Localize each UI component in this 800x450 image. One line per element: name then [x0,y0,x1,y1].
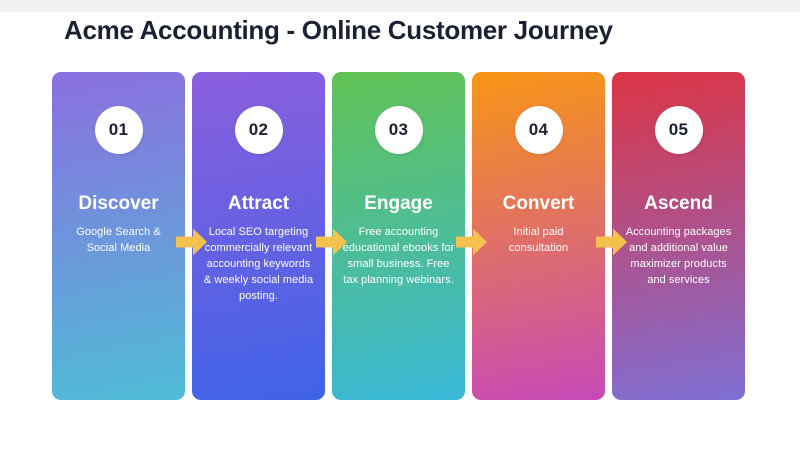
stage-content: 04ConvertInitial paid consultation [472,72,605,257]
stage-description: Local SEO targeting commercially relevan… [203,225,315,305]
stage-number-badge: 05 [655,106,703,154]
stage-heading: Discover [78,194,158,215]
stage-number-badge: 01 [95,106,143,154]
stage-description: Initial paid consultation [483,225,595,257]
journey-stage-card[interactable]: 05AscendAccounting packages and addition… [612,72,745,400]
top-strip [0,0,800,12]
journey-stage-card[interactable]: 03EngageFree accounting educational eboo… [332,72,465,400]
stage-heading: Ascend [644,194,713,215]
stage-content: 05AscendAccounting packages and addition… [612,72,745,289]
stage-description: Google Search & Social Media [63,225,175,257]
page-title: Acme Accounting - Online Customer Journe… [64,15,613,46]
stage-description: Free accounting educational ebooks for s… [343,225,455,289]
stage-content: 01DiscoverGoogle Search & Social Media [52,72,185,257]
stage-heading: Engage [364,194,433,215]
stage-heading: Convert [503,194,575,215]
stage-heading: Attract [228,194,289,215]
arrow-right-icon [596,228,627,256]
journey-stage-card[interactable]: 04ConvertInitial paid consultation [472,72,605,400]
slide-canvas: Acme Accounting - Online Customer Journe… [0,0,800,450]
journey-flow: 01DiscoverGoogle Search & Social Media02… [52,72,745,400]
stage-number-badge: 03 [375,106,423,154]
arrow-right-icon [176,228,207,256]
stage-content: 02AttractLocal SEO targeting commerciall… [192,72,325,305]
stage-number-badge: 04 [515,106,563,154]
arrow-right-icon [456,228,487,256]
journey-stage-card[interactable]: 02AttractLocal SEO targeting commerciall… [192,72,325,400]
stage-number-badge: 02 [235,106,283,154]
stage-content: 03EngageFree accounting educational eboo… [332,72,465,289]
arrow-right-icon [316,228,347,256]
stage-description: Accounting packages and additional value… [623,225,735,289]
journey-stage-card[interactable]: 01DiscoverGoogle Search & Social Media [52,72,185,400]
